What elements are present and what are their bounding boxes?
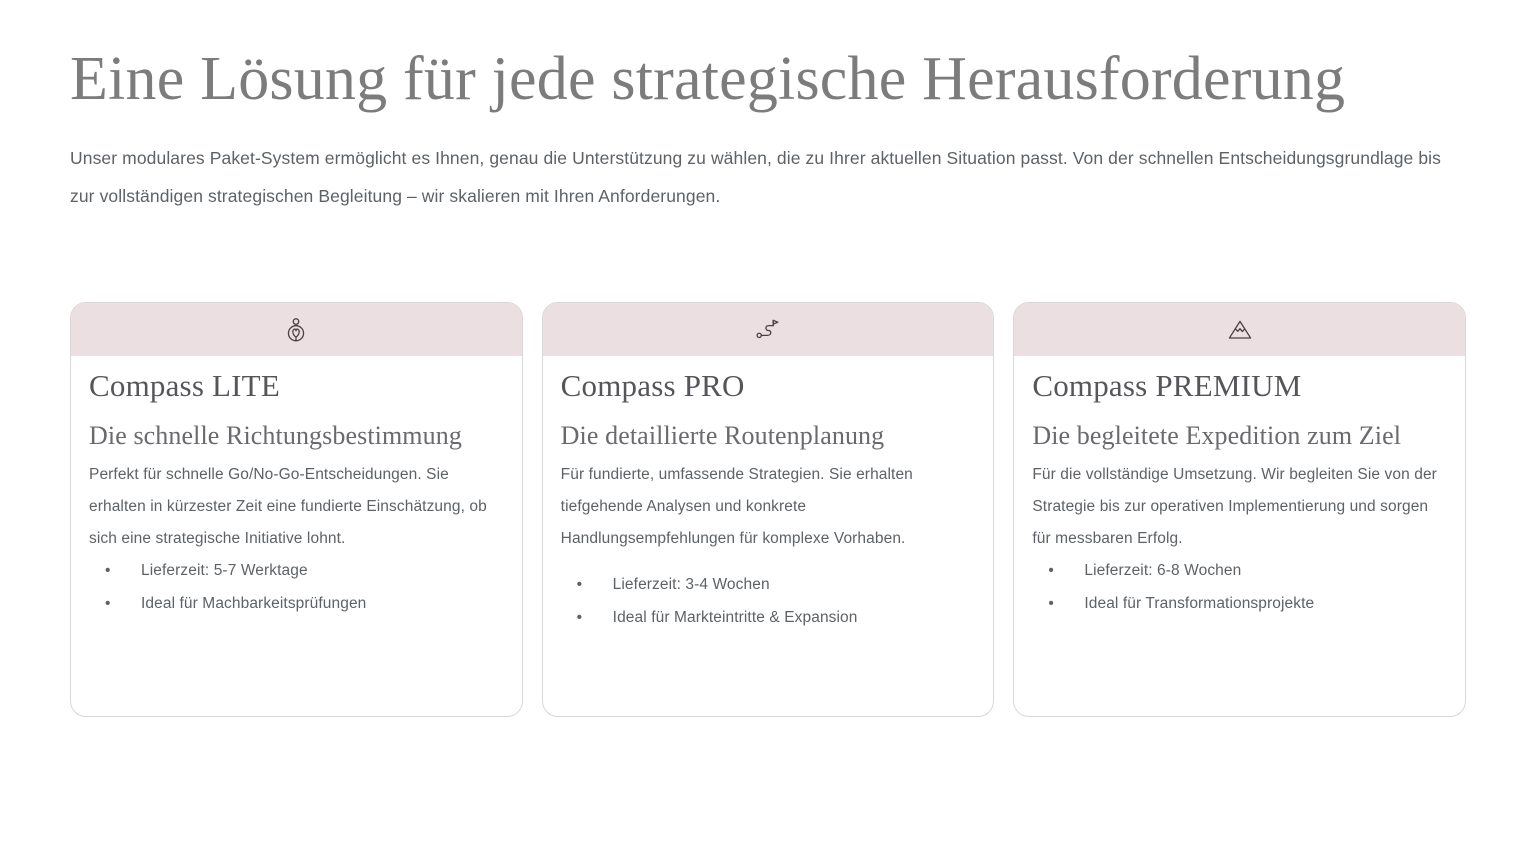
- list-item-label: Ideal für Machbarkeitsprüfungen: [141, 595, 366, 612]
- card-feature-list: • Lieferzeit: 3-4 Wochen • Ideal für Mar…: [561, 569, 976, 635]
- card-description: Für die vollständige Umsetzung. Wir begl…: [1032, 459, 1447, 555]
- card-header-band: [1014, 303, 1465, 356]
- card-body: Compass PREMIUM Die begleitete Expeditio…: [1014, 356, 1465, 716]
- list-item: • Lieferzeit: 3-4 Wochen: [561, 569, 976, 602]
- list-item: • Lieferzeit: 5-7 Werktage: [89, 555, 504, 588]
- route-flag-icon: [755, 317, 781, 343]
- bullet-icon: •: [105, 588, 111, 621]
- list-item-label: Ideal für Transformationsprojekte: [1084, 595, 1314, 612]
- card-body: Compass PRO Die detaillierte Routenplanu…: [543, 356, 994, 716]
- list-item-label: Ideal für Markteintritte & Expansion: [613, 609, 858, 626]
- list-item: • Ideal für Markteintritte & Expansion: [561, 602, 976, 635]
- card-feature-list: • Lieferzeit: 6-8 Wochen • Ideal für Tra…: [1032, 555, 1447, 621]
- bullet-icon: •: [105, 555, 111, 588]
- package-card-compass-premium[interactable]: Compass PREMIUM Die begleitete Expeditio…: [1013, 302, 1466, 717]
- list-item: • Ideal für Transformationsprojekte: [1032, 588, 1447, 621]
- card-subtitle: Die schnelle Richtungsbestimmung: [89, 414, 504, 459]
- mountain-summit-icon: [1227, 317, 1253, 343]
- card-description: Für fundierte, umfassende Strategien. Si…: [561, 459, 976, 555]
- package-card-grid: Compass LITE Die schnelle Richtungsbesti…: [70, 302, 1466, 717]
- card-subtitle: Die detaillierte Routenplanung: [561, 414, 976, 459]
- compass-icon: [283, 317, 309, 343]
- card-title: Compass PRO: [561, 370, 976, 401]
- bullet-icon: •: [1048, 555, 1054, 588]
- card-header-band: [71, 303, 522, 356]
- list-item-label: Lieferzeit: 6-8 Wochen: [1084, 562, 1241, 579]
- bullet-icon: •: [577, 602, 583, 635]
- card-title: Compass PREMIUM: [1032, 370, 1447, 401]
- card-body: Compass LITE Die schnelle Richtungsbesti…: [71, 356, 522, 716]
- list-item-label: Lieferzeit: 5-7 Werktage: [141, 562, 308, 579]
- page-subtitle: Unser modulares Paket-System ermöglicht …: [70, 113, 1466, 215]
- bullet-icon: •: [577, 569, 583, 602]
- bullet-icon: •: [1048, 588, 1054, 621]
- list-item-label: Lieferzeit: 3-4 Wochen: [613, 576, 770, 593]
- card-subtitle: Die begleitete Expedition zum Ziel: [1032, 414, 1447, 459]
- package-card-compass-lite[interactable]: Compass LITE Die schnelle Richtungsbesti…: [70, 302, 523, 717]
- page-title: Eine Lösung für jede strategische Heraus…: [70, 0, 1466, 113]
- pricing-packages-section: Eine Lösung für jede strategische Heraus…: [0, 0, 1536, 864]
- card-header-band: [543, 303, 994, 356]
- card-title: Compass LITE: [89, 370, 504, 401]
- card-feature-list: • Lieferzeit: 5-7 Werktage • Ideal für M…: [89, 555, 504, 621]
- card-description: Perfekt für schnelle Go/No-Go-Entscheidu…: [89, 459, 504, 555]
- list-item: • Lieferzeit: 6-8 Wochen: [1032, 555, 1447, 588]
- list-item: • Ideal für Machbarkeitsprüfungen: [89, 588, 504, 621]
- spacer: [561, 555, 976, 569]
- package-card-compass-pro[interactable]: Compass PRO Die detaillierte Routenplanu…: [542, 302, 995, 717]
